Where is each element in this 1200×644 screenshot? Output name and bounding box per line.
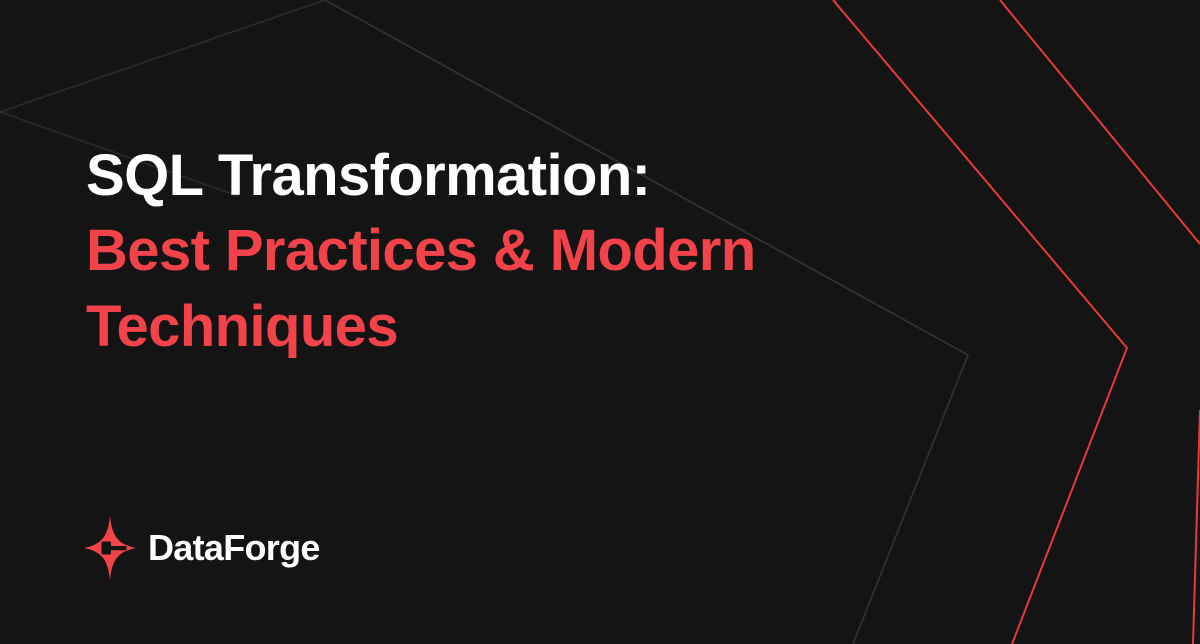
social-banner: SQL Transformation: Best Practices & Mod… — [0, 0, 1200, 644]
brand-name: DataForge — [148, 530, 320, 566]
headline-line-2: Best Practices & Modern — [86, 213, 906, 288]
headline-line-1: SQL Transformation: — [86, 138, 906, 213]
headline-line-3: Techniques — [86, 289, 906, 364]
banner-content: SQL Transformation: Best Practices & Mod… — [0, 0, 1200, 644]
page-title: SQL Transformation: Best Practices & Mod… — [86, 138, 906, 364]
forge-star-icon — [84, 515, 136, 581]
brand-logo: DataForge — [84, 513, 320, 583]
